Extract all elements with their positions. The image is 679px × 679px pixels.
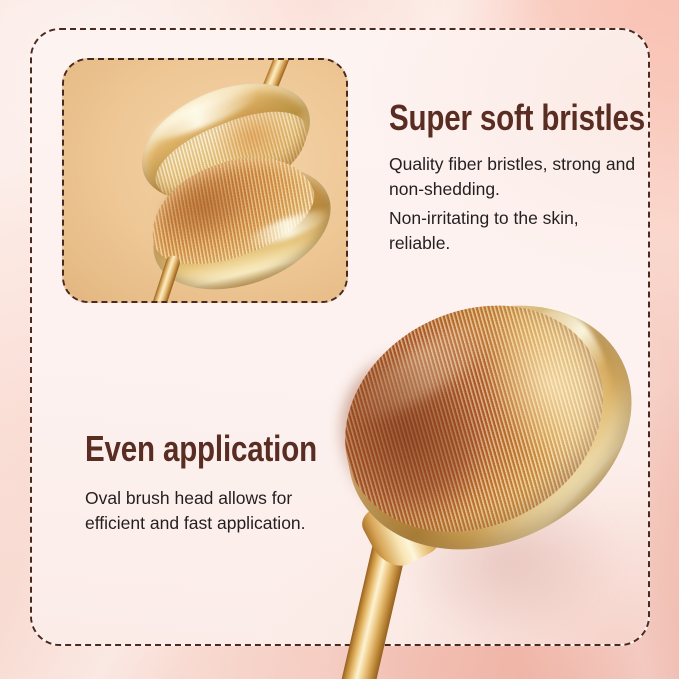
- feature-heading-super-soft-bristles: Super soft bristles: [389, 97, 645, 139]
- inset-brush-photo: [62, 58, 348, 303]
- feature-paragraph-oval-brush-head: Oval brush head allows for efficient and…: [85, 486, 347, 536]
- feature-heading-even-application: Even application: [85, 428, 317, 470]
- feature-paragraph-quality-fiber: Quality fiber bristles, strong and non-s…: [389, 152, 639, 202]
- product-infographic: Super soft bristles Quality fiber bristl…: [0, 0, 679, 679]
- feature-paragraph-non-irritating: Non-irritating to the skin, reliable.: [389, 206, 639, 256]
- inset-photo-content: [64, 60, 346, 301]
